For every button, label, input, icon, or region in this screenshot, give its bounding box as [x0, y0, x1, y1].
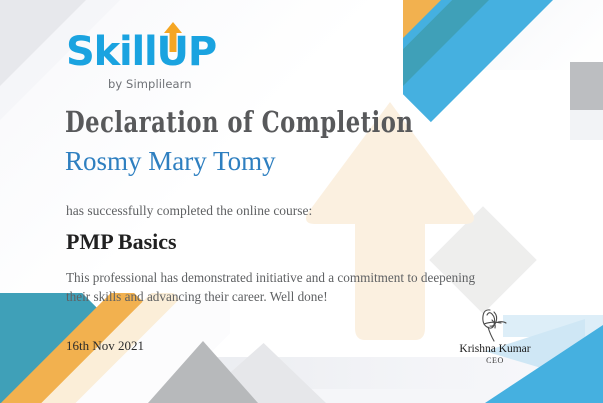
- certificate-content: SkillU P by Simplilearn Declaration of C…: [0, 0, 603, 403]
- course-name: PMP Basics: [66, 229, 177, 255]
- logo-text-p: P: [188, 29, 216, 75]
- signature-block: Krishna Kumar CEO: [440, 306, 550, 365]
- logo-u-group: U: [157, 30, 188, 74]
- achievement-blurb: This professional has demonstrated initi…: [66, 268, 496, 306]
- up-arrow-icon: [163, 17, 183, 47]
- logo-tagline: by Simplilearn: [108, 77, 286, 91]
- logo-wordmark: SkillU P: [66, 30, 286, 76]
- issue-date: 16th Nov 2021: [66, 338, 144, 354]
- signatory-name: Krishna Kumar: [440, 343, 550, 355]
- certificate-document: SkillU P by Simplilearn Declaration of C…: [0, 0, 603, 403]
- signatory-role: CEO: [440, 356, 550, 365]
- page-title-text: Declaration of Completion: [65, 106, 413, 140]
- page-title: Declaration of Completion: [65, 108, 424, 138]
- logo-text-skill: Skill: [66, 29, 157, 75]
- handwritten-signature-icon: [440, 306, 550, 342]
- course-lead-in-text: has successfully completed the online co…: [66, 203, 312, 219]
- skillup-logo: SkillU P by Simplilearn: [66, 30, 286, 91]
- recipient-name: Rosmy Mary Tomy: [65, 146, 276, 177]
